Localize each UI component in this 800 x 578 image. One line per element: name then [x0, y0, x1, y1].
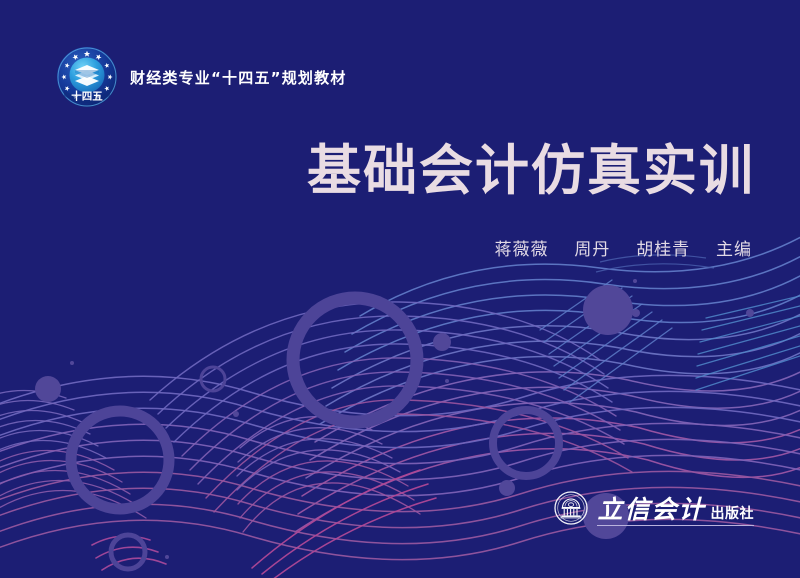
badge-bottom-text: 十四五: [71, 90, 103, 103]
book-title: 基础会计仿真实训: [307, 142, 755, 199]
author-name-1: 蒋薇薇: [495, 240, 549, 260]
lixin-seal-building-logo: [554, 491, 588, 525]
author-name-2: 周丹: [574, 240, 610, 260]
series-banner: 十四五 财经类专业“十四五”规划教材: [56, 46, 347, 108]
author-role: 主编: [716, 240, 752, 260]
book-cover: 十四五 财经类专业“十四五”规划教材 基础会计仿真实训 蒋薇薇 周丹 胡桂青 主…: [0, 0, 800, 578]
series-banner-text: 财经类专业“十四五”规划教材: [130, 69, 347, 86]
author-name-3: 胡桂青: [636, 240, 690, 260]
publisher-name-group: 立信会计 出版社: [597, 497, 754, 526]
publisher-suffix: 出版社: [711, 507, 755, 521]
author-line: 蒋薇薇 周丹 胡桂青 主编: [495, 235, 752, 260]
publisher-block: 立信会计 出版社: [554, 491, 754, 526]
fourteenth-five-year-plan-badge: 十四五: [56, 46, 118, 108]
publisher-main-name: 立信会计: [597, 497, 705, 522]
